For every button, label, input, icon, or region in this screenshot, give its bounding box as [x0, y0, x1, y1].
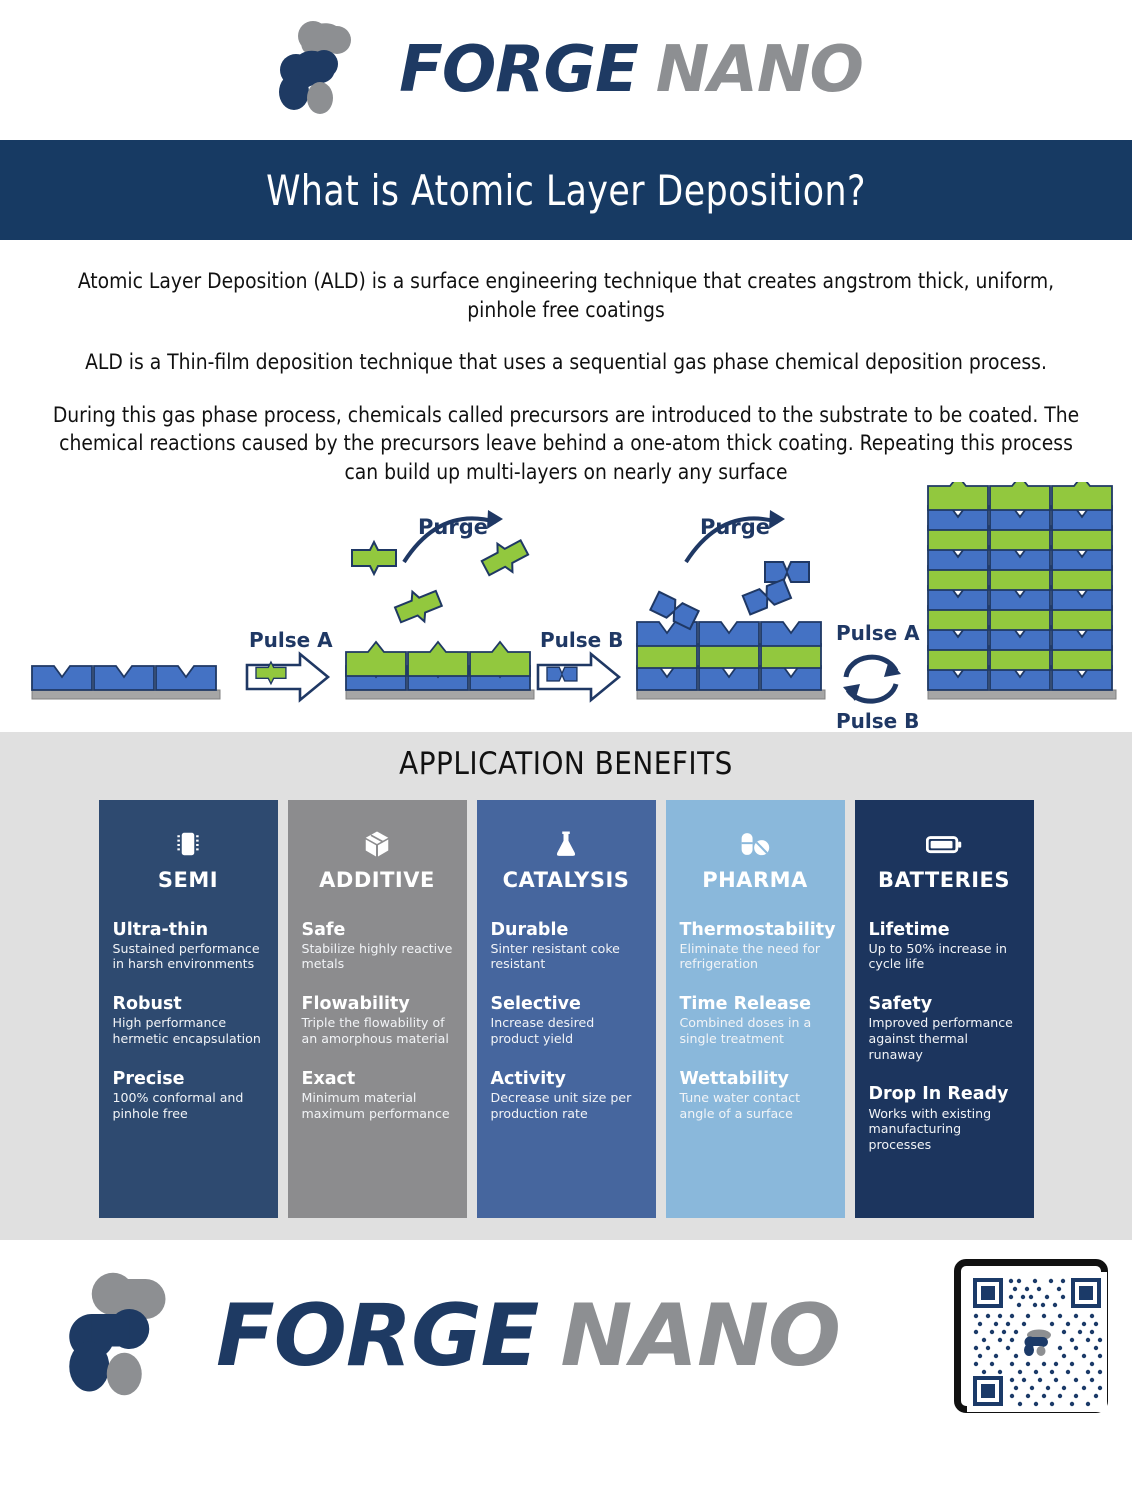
- diagram-stage-multilayer-stack: [928, 482, 1116, 699]
- intro-text-block: Atomic Layer Deposition (ALD) is a surfa…: [0, 240, 1132, 488]
- intro-paragraph-1: Atomic Layer Deposition (ALD) is a surfa…: [46, 268, 1086, 325]
- microchip-icon: [113, 824, 264, 864]
- benefit-sub: Eliminate the need for refrigeration: [680, 941, 831, 972]
- benefit-item: Flowability Triple the flowability of an…: [302, 994, 453, 1047]
- benefit-head: Thermostability: [680, 920, 831, 940]
- benefit-head: Exact: [302, 1069, 453, 1089]
- benefit-sub: Works with existing manufacturing proces…: [869, 1106, 1020, 1153]
- diagram-pulse-b-arrow: Pulse B: [538, 628, 623, 700]
- benefit-head: Time Release: [680, 994, 831, 1014]
- benefit-sub: Sustained performance in harsh environme…: [113, 941, 264, 972]
- benefit-sub: Triple the flowability of an amorphous m…: [302, 1015, 453, 1046]
- diagram-stage-bare-substrate: [32, 666, 220, 699]
- qr-code[interactable]: [954, 1259, 1108, 1413]
- benefit-item: Safe Stabilize highly reactive metals: [302, 920, 453, 973]
- benefit-column-title: BATTERIES: [869, 868, 1020, 892]
- benefit-sub: High performance hermetic encapsulation: [113, 1015, 264, 1046]
- benefit-sub: Increase desired product yield: [491, 1015, 642, 1046]
- benefit-column-title: SEMI: [113, 868, 264, 892]
- header-logo-bar: FORGENANO: [0, 0, 1132, 140]
- diagram-stage-pulse-a-result: Purge: [346, 510, 534, 699]
- benefit-head: Flowability: [302, 994, 453, 1014]
- benefit-sub: Tune water contact angle of a surface: [680, 1090, 831, 1121]
- benefit-item: Time Release Combined doses in a single …: [680, 994, 831, 1047]
- benefit-column-catalysis[interactable]: CATALYSIS Durable Sinter resistant coke …: [477, 800, 656, 1218]
- pill-icon: [680, 824, 831, 864]
- benefit-head: Ultra-thin: [113, 920, 264, 940]
- benefit-sub: Stabilize highly reactive metals: [302, 941, 453, 972]
- diagram-cycle-arrows: Pulse A Pulse B: [836, 621, 920, 732]
- forge-nano-logo-top: FORGENANO: [269, 12, 863, 128]
- battery-icon: [869, 824, 1020, 864]
- logo-word-nano: NANO: [656, 33, 863, 107]
- intro-paragraph-2: ALD is a Thin-film deposition technique …: [46, 349, 1086, 378]
- logo-word-forge-footer: FORGE: [216, 1286, 538, 1386]
- ald-process-diagram: Pulse A Purge Pulse B: [0, 482, 1132, 732]
- benefit-sub: Combined doses in a single treatment: [680, 1015, 831, 1046]
- benefit-head: Wettability: [680, 1069, 831, 1089]
- intro-paragraph-3: During this gas phase process, chemicals…: [46, 402, 1086, 488]
- benefit-item: Activity Decrease unit size per producti…: [491, 1069, 642, 1122]
- benefit-head: Precise: [113, 1069, 264, 1089]
- benefit-item: Ultra-thin Sustained performance in hars…: [113, 920, 264, 973]
- benefit-item: Wettability Tune water contact angle of …: [680, 1069, 831, 1122]
- benefit-head: Activity: [491, 1069, 642, 1089]
- benefit-sub: Improved performance against thermal run…: [869, 1015, 1020, 1062]
- benefit-sub: Up to 50% increase in cycle life: [869, 941, 1020, 972]
- benefit-column-title: ADDITIVE: [302, 868, 453, 892]
- benefit-head: Selective: [491, 994, 642, 1014]
- forge-nano-logo-mark-icon-footer: [58, 1264, 198, 1408]
- diagram-stage-pulse-b-result: Purge: [637, 510, 825, 699]
- benefit-item: Precise 100% conformal and pinhole free: [113, 1069, 264, 1122]
- logo-wordmark: FORGENANO: [399, 38, 863, 102]
- benefit-head: Safety: [869, 994, 1020, 1014]
- benefit-column-semi[interactable]: SEMI Ultra-thin Sustained performance in…: [99, 800, 278, 1218]
- benefits-columns: SEMI Ultra-thin Sustained performance in…: [0, 800, 1132, 1218]
- benefit-item: Exact Minimum material maximum performan…: [302, 1069, 453, 1122]
- svg-text:Pulse A: Pulse A: [836, 621, 920, 645]
- application-benefits-section: APPLICATION BENEFITS SEMI Ultra-thin Sus…: [0, 732, 1132, 1240]
- benefit-item: Thermostability Eliminate the need for r…: [680, 920, 831, 973]
- benefit-head: Drop In Ready: [869, 1084, 1020, 1104]
- benefit-head: Lifetime: [869, 920, 1020, 940]
- benefit-column-title: PHARMA: [680, 868, 831, 892]
- benefit-item: Durable Sinter resistant coke resistant: [491, 920, 642, 973]
- benefit-item: Selective Increase desired product yield: [491, 994, 642, 1047]
- benefit-head: Durable: [491, 920, 642, 940]
- logo-word-forge: FORGE: [399, 33, 638, 107]
- svg-text:Pulse A: Pulse A: [249, 628, 333, 652]
- forge-nano-logo-bottom: FORGENANO: [58, 1264, 840, 1408]
- forge-nano-logo-mark-icon: [269, 12, 381, 128]
- benefit-column-pharma[interactable]: PHARMA Thermostability Eliminate the nee…: [666, 800, 845, 1218]
- logo-wordmark-footer: FORGENANO: [216, 1293, 840, 1379]
- benefit-head: Safe: [302, 920, 453, 940]
- benefit-item: Robust High performance hermetic encapsu…: [113, 994, 264, 1047]
- svg-text:Pulse B: Pulse B: [540, 628, 623, 652]
- flask-icon: [491, 824, 642, 864]
- logo-word-nano-footer: NANO: [560, 1286, 840, 1386]
- svg-text:Pulse B: Pulse B: [836, 709, 919, 732]
- ald-diagram-svg: Pulse A Purge Pulse B: [0, 482, 1132, 732]
- benefit-column-additive[interactable]: ADDITIVE Safe Stabilize highly reactive …: [288, 800, 467, 1218]
- footer-bar: FORGENANO: [0, 1240, 1132, 1432]
- benefit-sub: 100% conformal and pinhole free: [113, 1090, 264, 1121]
- benefit-column-title: CATALYSIS: [491, 868, 642, 892]
- diagram-pulse-a-arrow-1: Pulse A: [247, 628, 333, 700]
- page-title-banner: What is Atomic Layer Deposition?: [0, 140, 1132, 240]
- qr-code-svg: [967, 1272, 1107, 1412]
- qr-center-logo-icon: [1022, 1327, 1054, 1359]
- benefits-section-title: APPLICATION BENEFITS: [0, 746, 1132, 782]
- benefit-head: Robust: [113, 994, 264, 1014]
- benefit-item: Drop In Ready Works with existing manufa…: [869, 1084, 1020, 1152]
- benefit-sub: Decrease unit size per production rate: [491, 1090, 642, 1121]
- benefit-sub: Minimum material maximum performance: [302, 1090, 453, 1121]
- benefit-item: Safety Improved performance against ther…: [869, 994, 1020, 1062]
- benefit-sub: Sinter resistant coke resistant: [491, 941, 642, 972]
- cube-icon: [302, 824, 453, 864]
- page-title: What is Atomic Layer Deposition?: [266, 166, 866, 215]
- benefit-item: Lifetime Up to 50% increase in cycle lif…: [869, 920, 1020, 973]
- benefit-column-batteries[interactable]: BATTERIES Lifetime Up to 50% increase in…: [855, 800, 1034, 1218]
